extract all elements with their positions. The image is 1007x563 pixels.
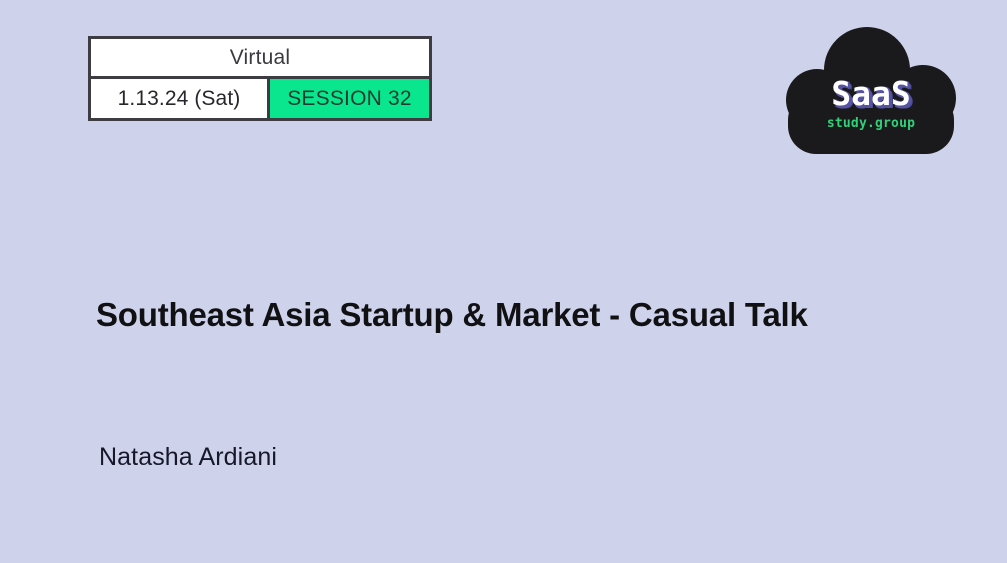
slide-canvas: Virtual 1.13.24 (Sat) SESSION 32 SaaS st… [0,0,1007,563]
badge-bottom-row: 1.13.24 (Sat) SESSION 32 [91,79,429,118]
speaker-name: Natasha Ardiani [99,443,277,472]
badge-date-cell: 1.13.24 (Sat) [91,79,267,118]
logo-title: SaaS [831,77,910,110]
saas-study-group-logo: SaaS study.group [781,26,961,158]
badge-format-cell: Virtual [91,39,429,76]
badge-session-cell: SESSION 32 [270,79,429,118]
badge-session-label: SESSION 32 [287,87,412,111]
logo-subtitle: study.group [827,117,915,130]
page-title: Southeast Asia Startup & Market - Casual… [96,296,936,335]
session-badge: Virtual 1.13.24 (Sat) SESSION 32 [88,36,432,121]
logo-text-block: SaaS study.group [781,26,961,158]
badge-format-label: Virtual [230,46,291,70]
badge-date-label: 1.13.24 (Sat) [118,87,241,111]
